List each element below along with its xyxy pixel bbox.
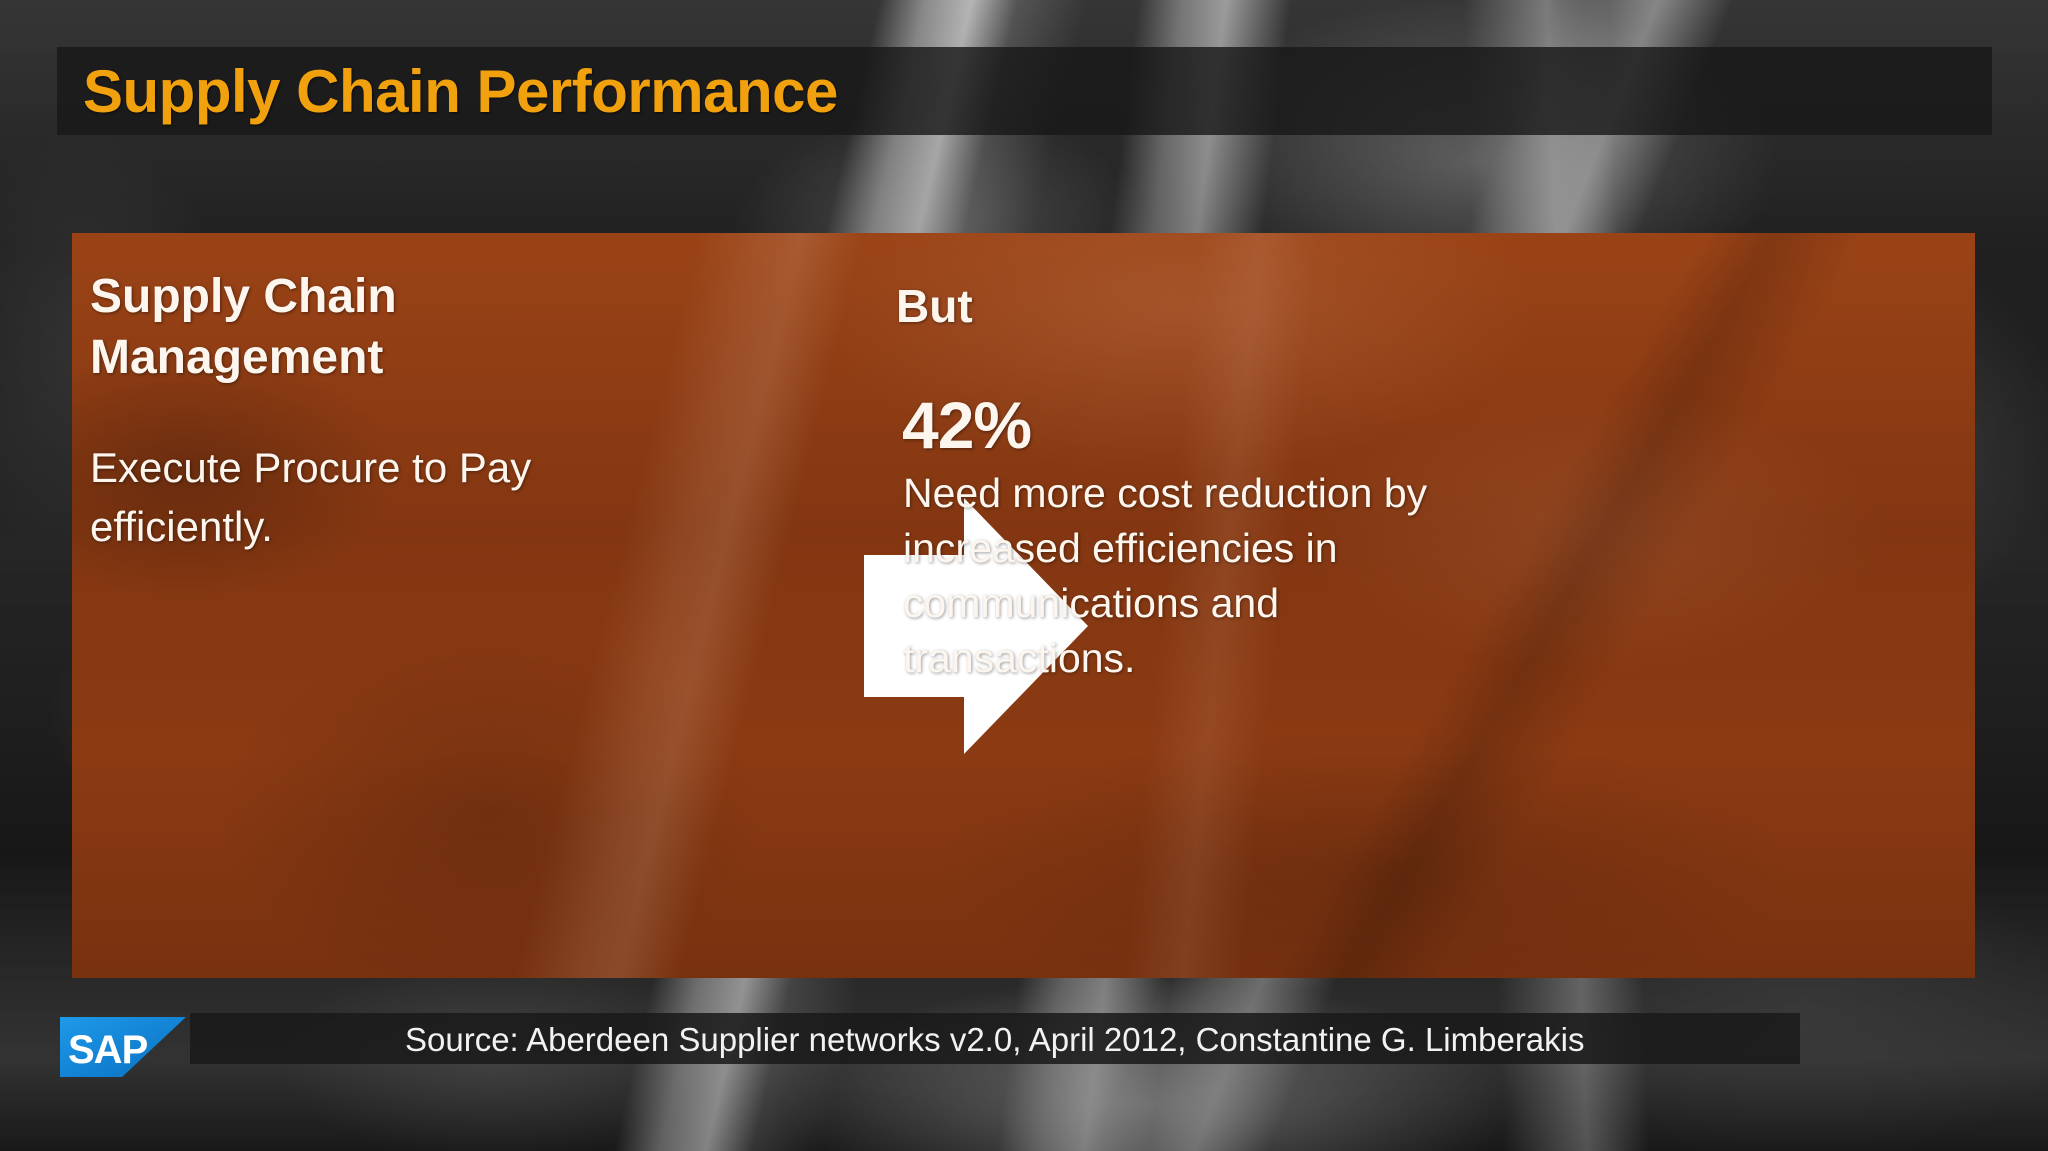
svg-text:SAP: SAP — [68, 1028, 148, 1072]
left-column-heading: Supply Chain Management — [90, 266, 650, 389]
slide-canvas: Supply Chain Performance Supply Chain Ma… — [0, 0, 2048, 1151]
left-column: Supply Chain Management Execute Procure … — [90, 266, 650, 556]
page-title: Supply Chain Performance — [83, 57, 838, 126]
sap-logo: SAP — [60, 1017, 186, 1077]
stat-value: 42% — [902, 387, 1031, 463]
left-column-body: Execute Procure to Pay efficiently. — [90, 439, 650, 557]
source-citation: Source: Aberdeen Supplier networks v2.0,… — [405, 1021, 1585, 1059]
right-column-label: But — [896, 279, 973, 333]
stat-description: Need more cost reduction by increased ef… — [903, 466, 1503, 686]
